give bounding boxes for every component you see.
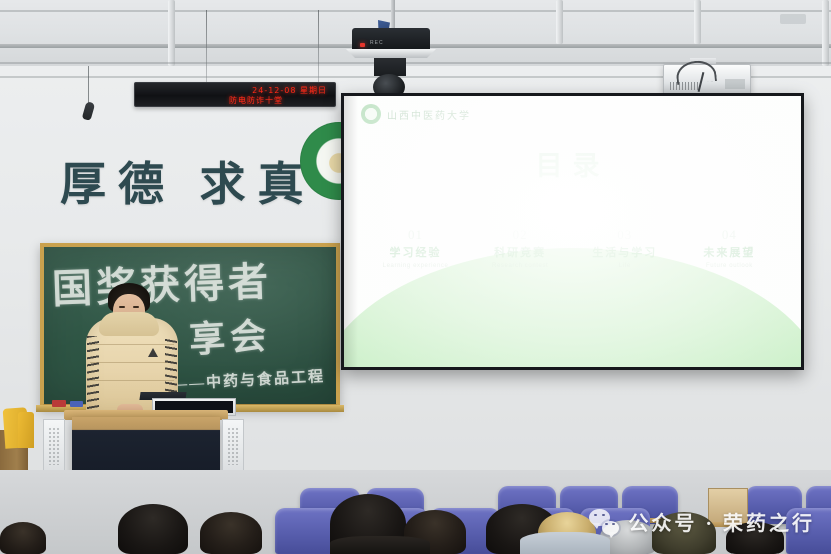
toc-title: 科研竞赛 xyxy=(471,244,570,260)
toc-title: 生活与学习 xyxy=(575,244,674,260)
wechat-icon xyxy=(589,509,619,535)
toc-number: 04 xyxy=(680,227,779,243)
toc-subtitle: Future outlook xyxy=(680,263,779,269)
microphone-wire xyxy=(88,66,89,104)
toc-subtitle: Research contest xyxy=(471,263,570,269)
chalkboard-line-1: 国奖获得者 xyxy=(51,249,273,315)
toc-item-1: 01 学习经验 Learning experience xyxy=(366,227,465,269)
toc-title: 未来展望 xyxy=(680,244,779,260)
speaker-right xyxy=(222,419,244,477)
toc-item-2: 02 科研竞赛 Research contest xyxy=(471,227,570,269)
toc-item-4: 04 未来展望 Future outlook xyxy=(680,227,779,269)
camera-label: REC xyxy=(370,40,384,46)
toc-subtitle: Life xyxy=(575,263,674,269)
led-line-2: 防电防诈十堂 xyxy=(229,95,283,106)
toc-item-3: 03 生活与学习 Life xyxy=(575,227,674,269)
slide-logo: 山西中医药大学 xyxy=(361,104,471,124)
toc-subtitle: Learning experience xyxy=(366,263,465,269)
toc-number: 01 xyxy=(366,227,465,243)
classroom-scene: REC 24-12-08 星期日 防电防诈十堂 厚德 求真 国奖获得者 享会 —… xyxy=(0,0,831,554)
projection-screen: 山西中医药大学 目录 01 学习经验 Learning experience 0… xyxy=(341,93,804,370)
eraser-icon xyxy=(52,400,66,407)
slide-logo-icon xyxy=(361,104,381,124)
chalk-box-icon xyxy=(70,401,83,407)
led-notice-board: 24-12-08 星期日 防电防诈十堂 xyxy=(134,82,336,107)
wall-mounted-box xyxy=(780,14,806,24)
toc-number: 02 xyxy=(471,227,570,243)
record-led-icon xyxy=(360,43,365,47)
slide-title: 目录 xyxy=(344,144,801,183)
chalkboard-line-2: 享会 xyxy=(188,307,273,363)
slide-logo-text: 山西中医药大学 xyxy=(387,107,471,122)
yellow-object-2 xyxy=(18,412,34,448)
toc-number: 03 xyxy=(575,227,674,243)
speaker-left xyxy=(43,419,65,477)
slide-toc-list: 01 学习经验 Learning experience 02 科研竞赛 Rese… xyxy=(366,227,779,269)
chalkboard: 国奖获得者 享会 ——中药与食品工程 xyxy=(40,243,340,408)
watermark: 公众号 · 荣药之行 xyxy=(589,507,815,536)
wall-calligraphy: 厚德 求真 xyxy=(60,148,316,214)
toc-title: 学习经验 xyxy=(366,244,465,260)
watermark-text: 公众号 · 荣药之行 xyxy=(628,507,815,536)
